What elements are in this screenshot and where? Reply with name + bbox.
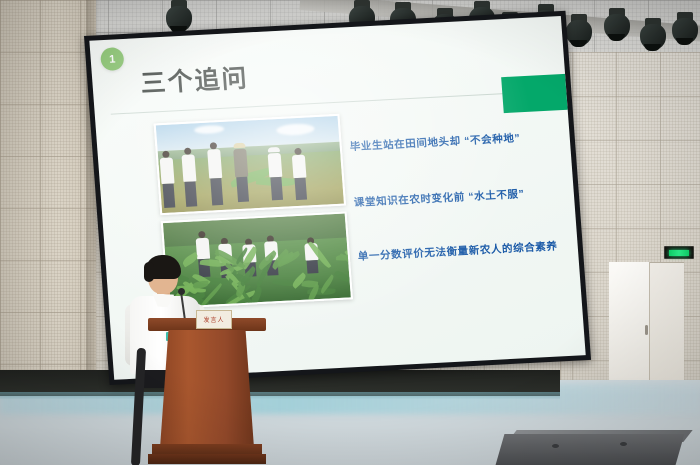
photo-student xyxy=(298,148,302,200)
door-leaf[interactable] xyxy=(609,262,650,387)
scene-root: 1 三个追问 xyxy=(0,0,700,465)
stage-light-8-icon xyxy=(640,18,666,52)
stage-light-9-icon xyxy=(672,12,698,46)
photo-rice-harvest xyxy=(154,114,347,215)
floor-monitor-bolt xyxy=(620,442,627,446)
left-wall xyxy=(0,0,96,400)
slide-bullet-3: 单一分数评价无法衡量新农人的综合素养 xyxy=(357,238,558,263)
accent-green-block xyxy=(501,74,568,113)
floor-monitor xyxy=(496,434,685,465)
photo-corn-leaf xyxy=(336,254,353,261)
left-acoustic-panel-grid xyxy=(0,0,96,400)
presenter-hair-side xyxy=(144,262,154,282)
photo-student xyxy=(166,151,170,209)
photo-student xyxy=(213,142,218,206)
podium-base-foot xyxy=(148,454,266,464)
stage-light-6-icon xyxy=(566,14,592,48)
slide-title: 三个追问 xyxy=(139,58,250,100)
podium-plaque: 发言人 xyxy=(196,310,232,329)
stage-light-11-icon xyxy=(166,0,192,34)
photo-farmer xyxy=(239,143,243,203)
stage-light-7-icon xyxy=(604,8,630,42)
stage-riser-edge xyxy=(0,392,560,399)
slide-bullet-1: 毕业生站在田间地头却 “不会种地” xyxy=(349,130,521,154)
floor-monitor-bolt xyxy=(552,444,559,448)
door-handle[interactable] xyxy=(645,325,648,335)
podium: 发言人 xyxy=(148,318,266,465)
photo-student xyxy=(187,148,191,208)
photo-student xyxy=(274,147,278,201)
exit-sign-icon xyxy=(664,246,694,259)
slide-bullet-2: 课堂知识在农时变化前 “水土不服” xyxy=(353,186,525,210)
slide-number-badge: 1 xyxy=(100,47,125,71)
podium-front xyxy=(160,330,254,448)
microphone-icon xyxy=(178,288,185,295)
